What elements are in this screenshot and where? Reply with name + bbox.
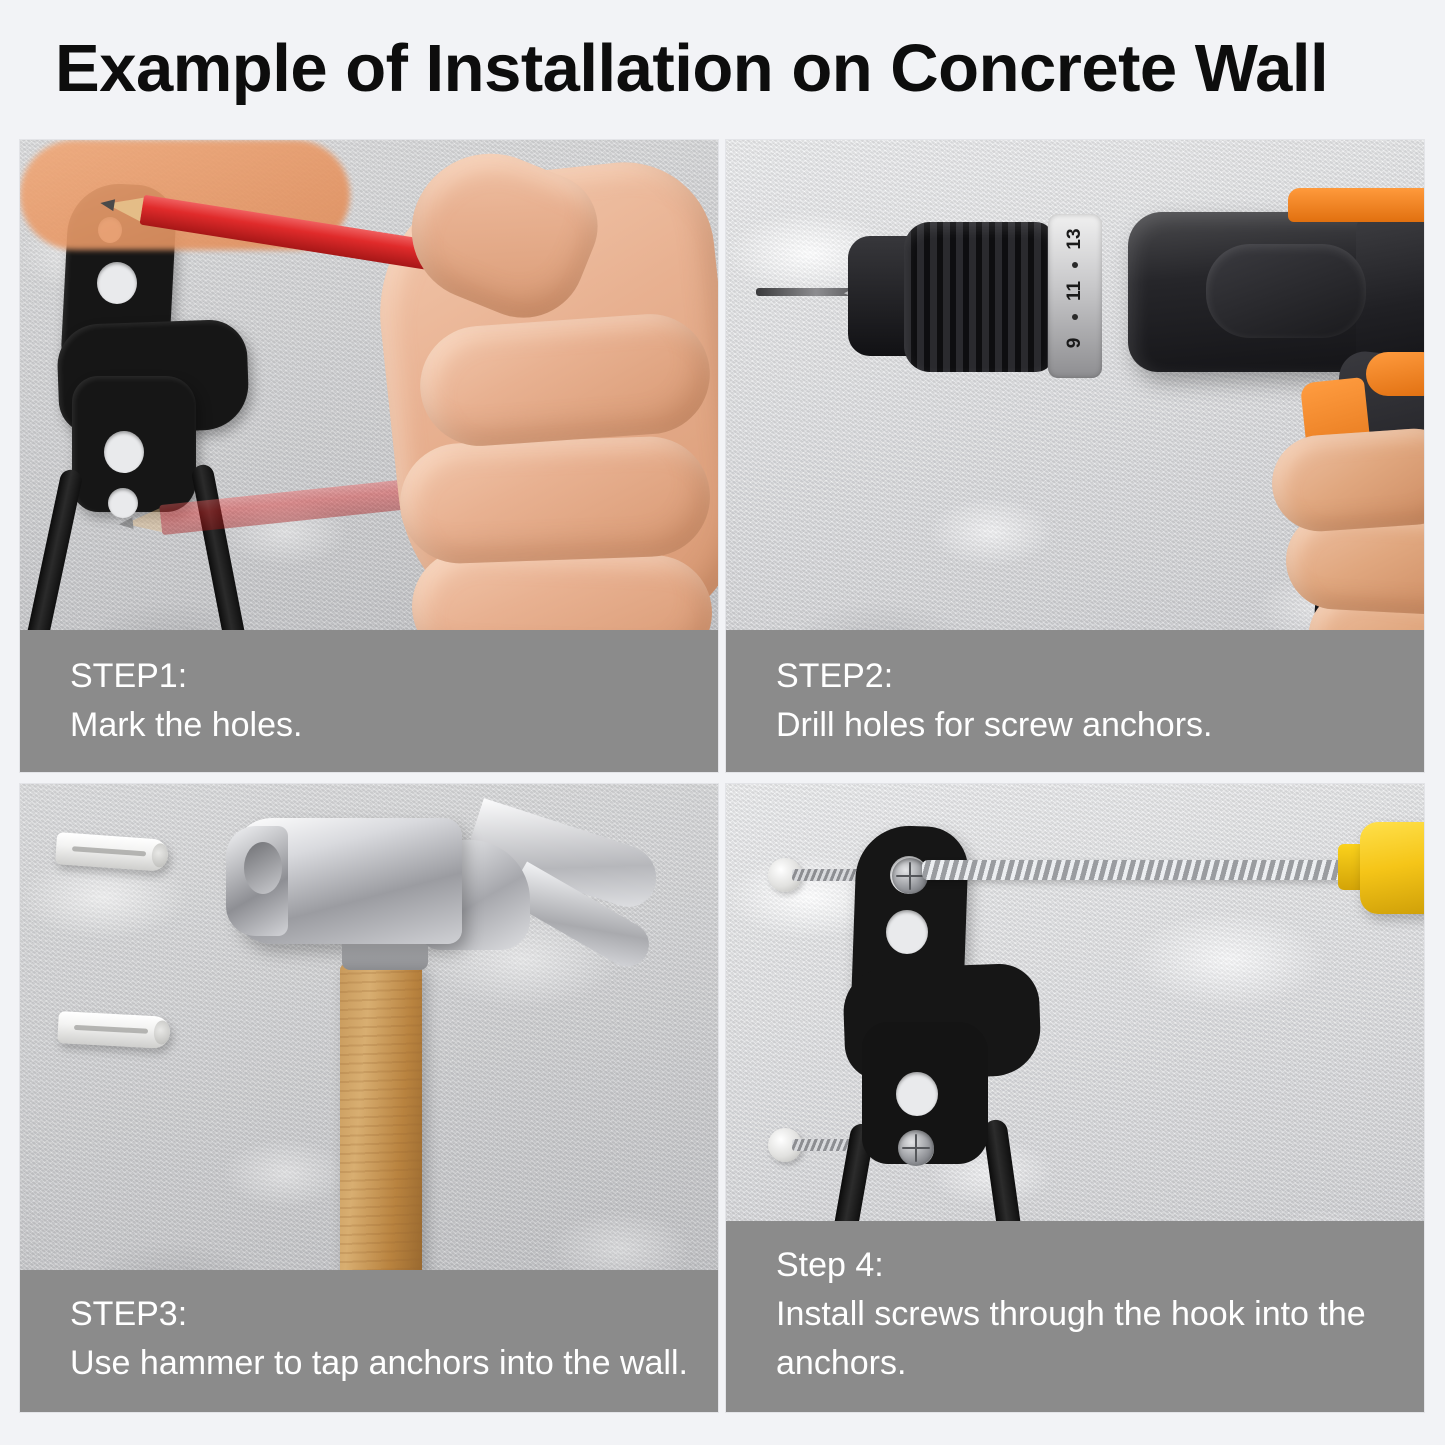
step-caption-3: STEP3: Use hammer to tap anchors into th… [20,1270,718,1412]
drill-chuck [904,222,1054,372]
page-title: Example of Installation on Concrete Wall [55,26,1405,112]
step-text: Install screws through the hook into the… [776,1290,1424,1388]
step-panel-3: STEP3: Use hammer to tap anchors into th… [20,784,718,1412]
mounting-hole-icon [97,262,137,304]
step-text: Use hammer to tap anchors into the wall. [70,1339,718,1388]
step-text: Mark the holes. [70,701,718,750]
steps-grid: STEP1: Mark the holes. 13 11 9 [20,140,1424,1412]
clutch-number: 11 [1064,264,1086,318]
installation-guide-page: Example of Installation on Concrete Wall [0,0,1445,1445]
step-panel-2: 13 11 9 STEP2: Drill holes for screw anc… [726,140,1424,772]
step-label: STEP2: [776,652,1424,701]
screw-head-icon [898,1130,934,1166]
screwdriver-grip [1360,822,1424,914]
anchor-slit [72,846,146,856]
drill-orange-top-accent [1288,188,1424,222]
mounting-hole-icon [104,431,144,473]
hand-finger [416,310,714,450]
screwdriver-shaft [922,860,1352,880]
step-label: STEP3: [70,1290,718,1339]
step-caption-2: STEP2: Drill holes for screw anchors. [726,630,1424,772]
clutch-number: 9 [1064,316,1086,370]
drill-direction-button [1366,352,1424,396]
mounting-hole-icon [886,910,928,954]
step-caption-1: STEP1: Mark the holes. [20,630,718,772]
step-label: Step 4: [776,1241,1424,1290]
step-caption-4: Step 4: Install screws through the hook … [726,1221,1424,1412]
clutch-number: 13 [1064,212,1086,266]
step-text: Drill holes for screw anchors. [776,701,1424,750]
hand-finger [398,435,712,566]
step-panel-1: STEP1: Mark the holes. [20,140,718,772]
mounting-hole-icon [896,1072,938,1116]
hammer-face-highlight [244,842,282,894]
drill-bit-shaft [756,288,856,296]
drill-side-pad [1206,244,1366,338]
step-label: STEP1: [70,652,718,701]
anchor-slit [74,1025,148,1034]
wall-anchor-icon [57,1011,171,1049]
step-panel-4: Step 4: Install screws through the hook … [726,784,1424,1412]
